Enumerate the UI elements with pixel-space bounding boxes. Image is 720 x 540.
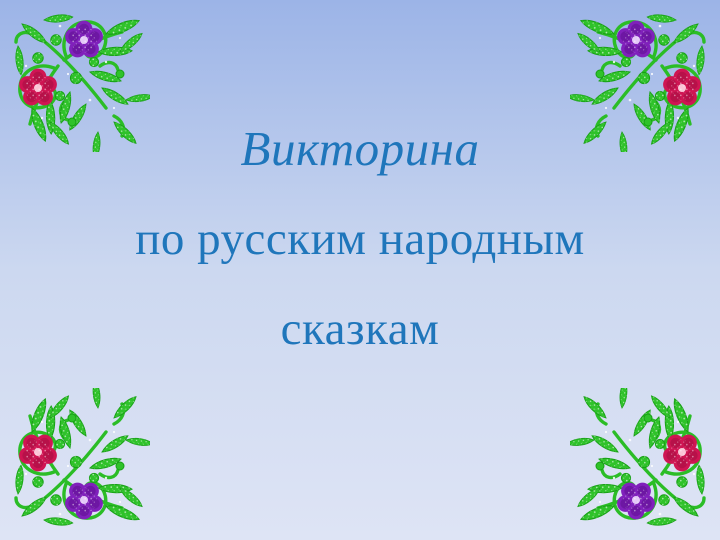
slide-canvas: Викторина по русским народным сказкам [0, 0, 720, 540]
floral-corner-bottom-left-ornament [2, 388, 150, 536]
slide-title: Викторина по русским народным сказкам [0, 104, 720, 374]
title-line-2: по русским народным [0, 194, 720, 284]
title-line-3: сказкам [0, 284, 720, 374]
title-line-1: Викторина [0, 104, 720, 194]
floral-corner-bottom-right-ornament [570, 388, 718, 536]
